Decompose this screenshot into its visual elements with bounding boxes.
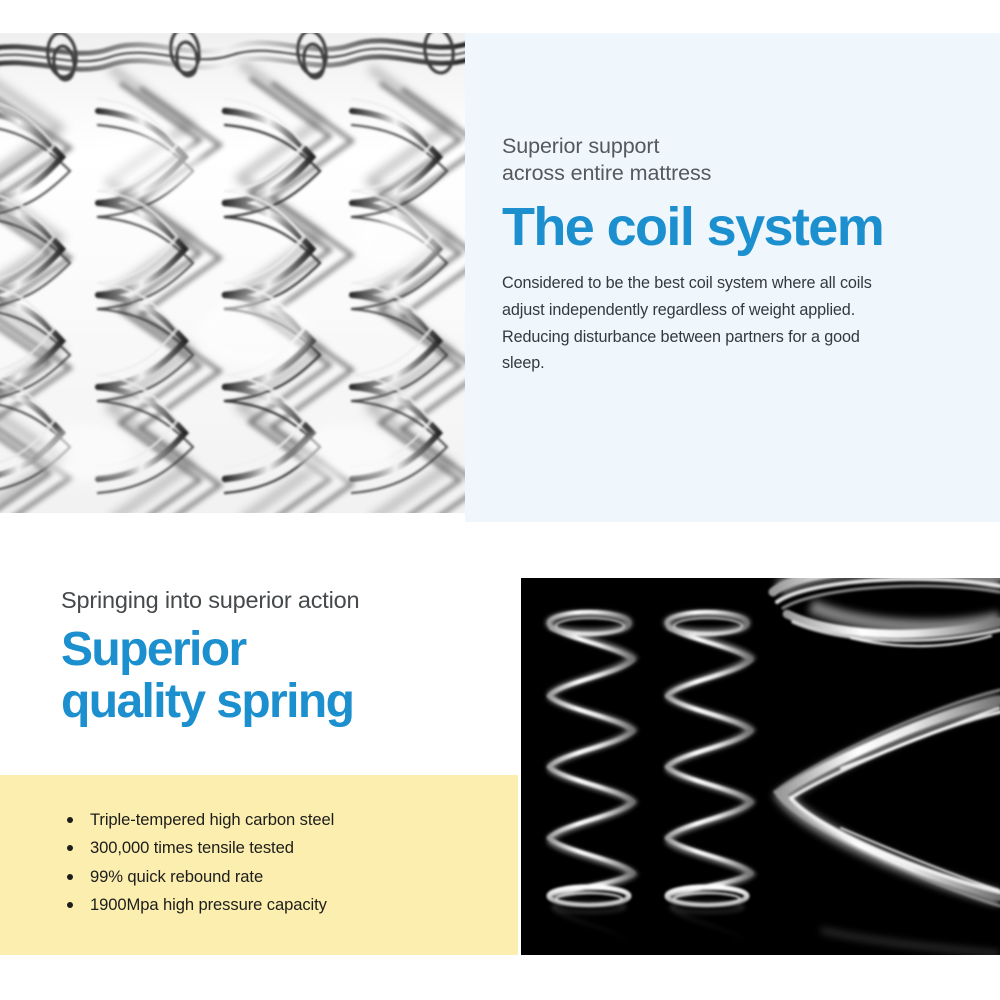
- bullet-dot-icon: [67, 902, 73, 908]
- coil-system-text-block: Superior support across entire mattress …: [502, 133, 922, 377]
- list-item-label: 1900Mpa high pressure capacity: [90, 895, 327, 914]
- bullet-dot-icon: [67, 817, 73, 823]
- coil-system-headline: The coil system: [502, 198, 922, 256]
- list-item-label: 99% quick rebound rate: [90, 867, 263, 886]
- bullet-dot-icon: [67, 874, 73, 880]
- quality-spring-headline: Superior quality spring: [61, 624, 501, 728]
- coil-system-eyebrow: Superior support across entire mattress: [502, 133, 922, 186]
- list-item: 1900Mpa high pressure capacity: [62, 891, 334, 919]
- list-item-label: 300,000 times tensile tested: [90, 838, 294, 857]
- quality-spring-text-block: Springing into superior action Superior …: [61, 586, 501, 728]
- bullet-dot-icon: [67, 845, 73, 851]
- list-item: Triple-tempered high carbon steel: [62, 806, 334, 834]
- quality-spring-bullet-list: Triple-tempered high carbon steel 300,00…: [62, 806, 334, 919]
- quality-spring-photo: [521, 578, 1000, 955]
- list-item: 99% quick rebound rate: [62, 863, 334, 891]
- quality-spring-headline-line1: Superior: [61, 624, 501, 676]
- quality-spring-headline-line2: quality spring: [61, 676, 501, 728]
- coil-system-body: Considered to be the best coil system wh…: [502, 270, 897, 377]
- quality-spring-eyebrow: Springing into superior action: [61, 586, 501, 614]
- list-item: 300,000 times tensile tested: [62, 834, 334, 862]
- list-item-label: Triple-tempered high carbon steel: [90, 810, 334, 829]
- infographic-page: Superior support across entire mattress …: [0, 0, 1000, 1000]
- coil-system-photo: [0, 33, 465, 513]
